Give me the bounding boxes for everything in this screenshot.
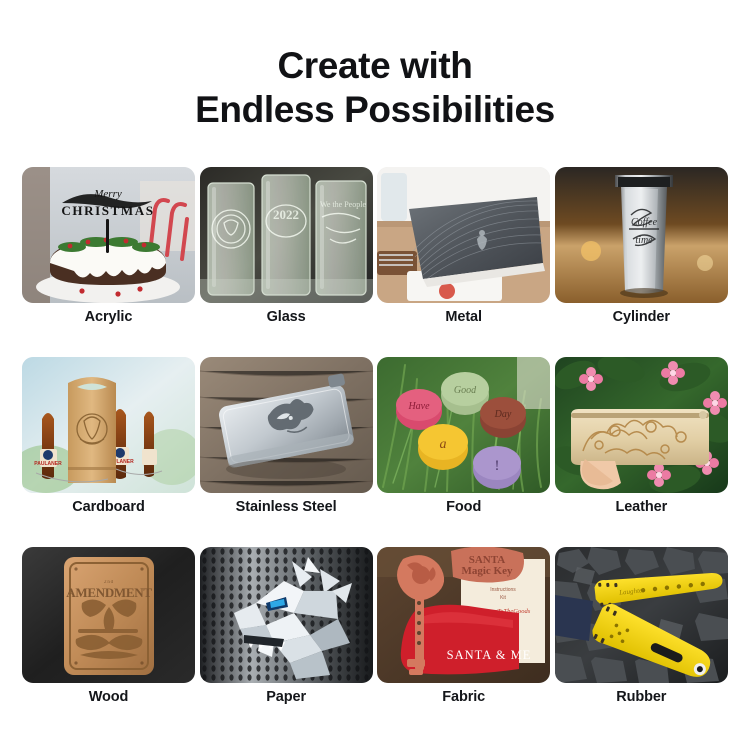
- svg-text:Good: Good: [454, 385, 477, 396]
- cardboard-beer-carrier-photo: PAULANERPAULANER: [22, 357, 195, 493]
- material-label: Wood: [22, 689, 195, 705]
- material-label: Metal: [377, 309, 550, 325]
- engraved-steel-flask-photo: [200, 357, 373, 493]
- santa-stocking-fabric-photo: SANTA Magic Key Instructions Kit @CarryT…: [377, 547, 550, 683]
- svg-text:Instructions: Instructions: [490, 587, 516, 593]
- engraved-leather-pouch-photo: [555, 357, 728, 493]
- engraved-rubber-watch-band-photo: Laughter: [555, 547, 728, 683]
- papercraft-dragon-head-photo: [200, 547, 373, 683]
- material-label: Fabric: [377, 689, 550, 705]
- svg-text:!: !: [495, 458, 500, 474]
- svg-text:time: time: [635, 235, 653, 246]
- engraved-macarons-photo: Have Good Day a !: [377, 357, 550, 493]
- material-card-fabric[interactable]: SANTA Magic Key Instructions Kit @CarryT…: [377, 547, 550, 683]
- material-card-glass[interactable]: 2022 We the People Glass: [200, 167, 373, 303]
- material-card-rubber[interactable]: Laughter: [555, 547, 728, 683]
- material-card-leather[interactable]: Leather: [555, 357, 728, 493]
- material-card-paper[interactable]: Paper: [200, 547, 373, 683]
- engraved-wood-plaque-photo: 2nd AMENDMENT: [22, 547, 195, 683]
- svg-text:Have: Have: [408, 401, 431, 412]
- svg-text:Kit: Kit: [500, 595, 506, 601]
- material-label: Glass: [200, 309, 373, 325]
- material-card-cylinder[interactable]: Coffee time Cylinder: [555, 167, 728, 303]
- svg-text:Coffee: Coffee: [631, 217, 658, 228]
- page-title: Create with Endless Possibilities: [0, 0, 750, 132]
- engraved-laptop-lid-photo: [377, 167, 550, 303]
- svg-text:CHRISTMAS: CHRISTMAS: [61, 203, 154, 218]
- engraved-glass-tumblers-photo: 2022 We the People: [200, 167, 373, 303]
- material-card-wood[interactable]: 2nd AMENDMENT Wood: [22, 547, 195, 683]
- material-card-food[interactable]: Have Good Day a ! Fo: [377, 357, 550, 493]
- material-label: Stainless Steel: [200, 499, 373, 515]
- material-label: Paper: [200, 689, 373, 705]
- material-card-acrylic[interactable]: CHRISTMAS Merry Acrylic: [22, 167, 195, 303]
- material-label: Cylinder: [555, 309, 728, 325]
- material-label: Food: [377, 499, 550, 515]
- page-title-line-2: Endless Possibilities: [0, 88, 750, 132]
- material-card-metal[interactable]: Metal: [377, 167, 550, 303]
- materials-grid: CHRISTMAS Merry Acrylic: [22, 167, 728, 683]
- svg-text:a: a: [440, 437, 447, 452]
- material-label: Cardboard: [22, 499, 195, 515]
- page-title-line-1: Create with: [0, 44, 750, 88]
- svg-text:SANTA & ME: SANTA & ME: [447, 648, 532, 662]
- material-card-stainless-steel[interactable]: Stainless Steel: [200, 357, 373, 493]
- svg-text:Magic Key: Magic Key: [462, 565, 514, 577]
- acrylic-cake-topper-photo: CHRISTMAS Merry: [22, 167, 195, 303]
- svg-text:Day: Day: [494, 409, 512, 420]
- material-card-cardboard[interactable]: PAULANERPAULANER Cardboard: [22, 357, 195, 493]
- svg-text:PAULANER: PAULANER: [34, 461, 62, 467]
- svg-text:AMENDMENT: AMENDMENT: [66, 585, 152, 600]
- svg-text:2022: 2022: [273, 207, 299, 222]
- material-label: Rubber: [555, 689, 728, 705]
- material-label: Acrylic: [22, 309, 195, 325]
- svg-text:We the People: We the People: [320, 200, 366, 209]
- engraved-travel-mug-photo: Coffee time: [555, 167, 728, 303]
- material-label: Leather: [555, 499, 728, 515]
- svg-text:Merry: Merry: [93, 188, 122, 200]
